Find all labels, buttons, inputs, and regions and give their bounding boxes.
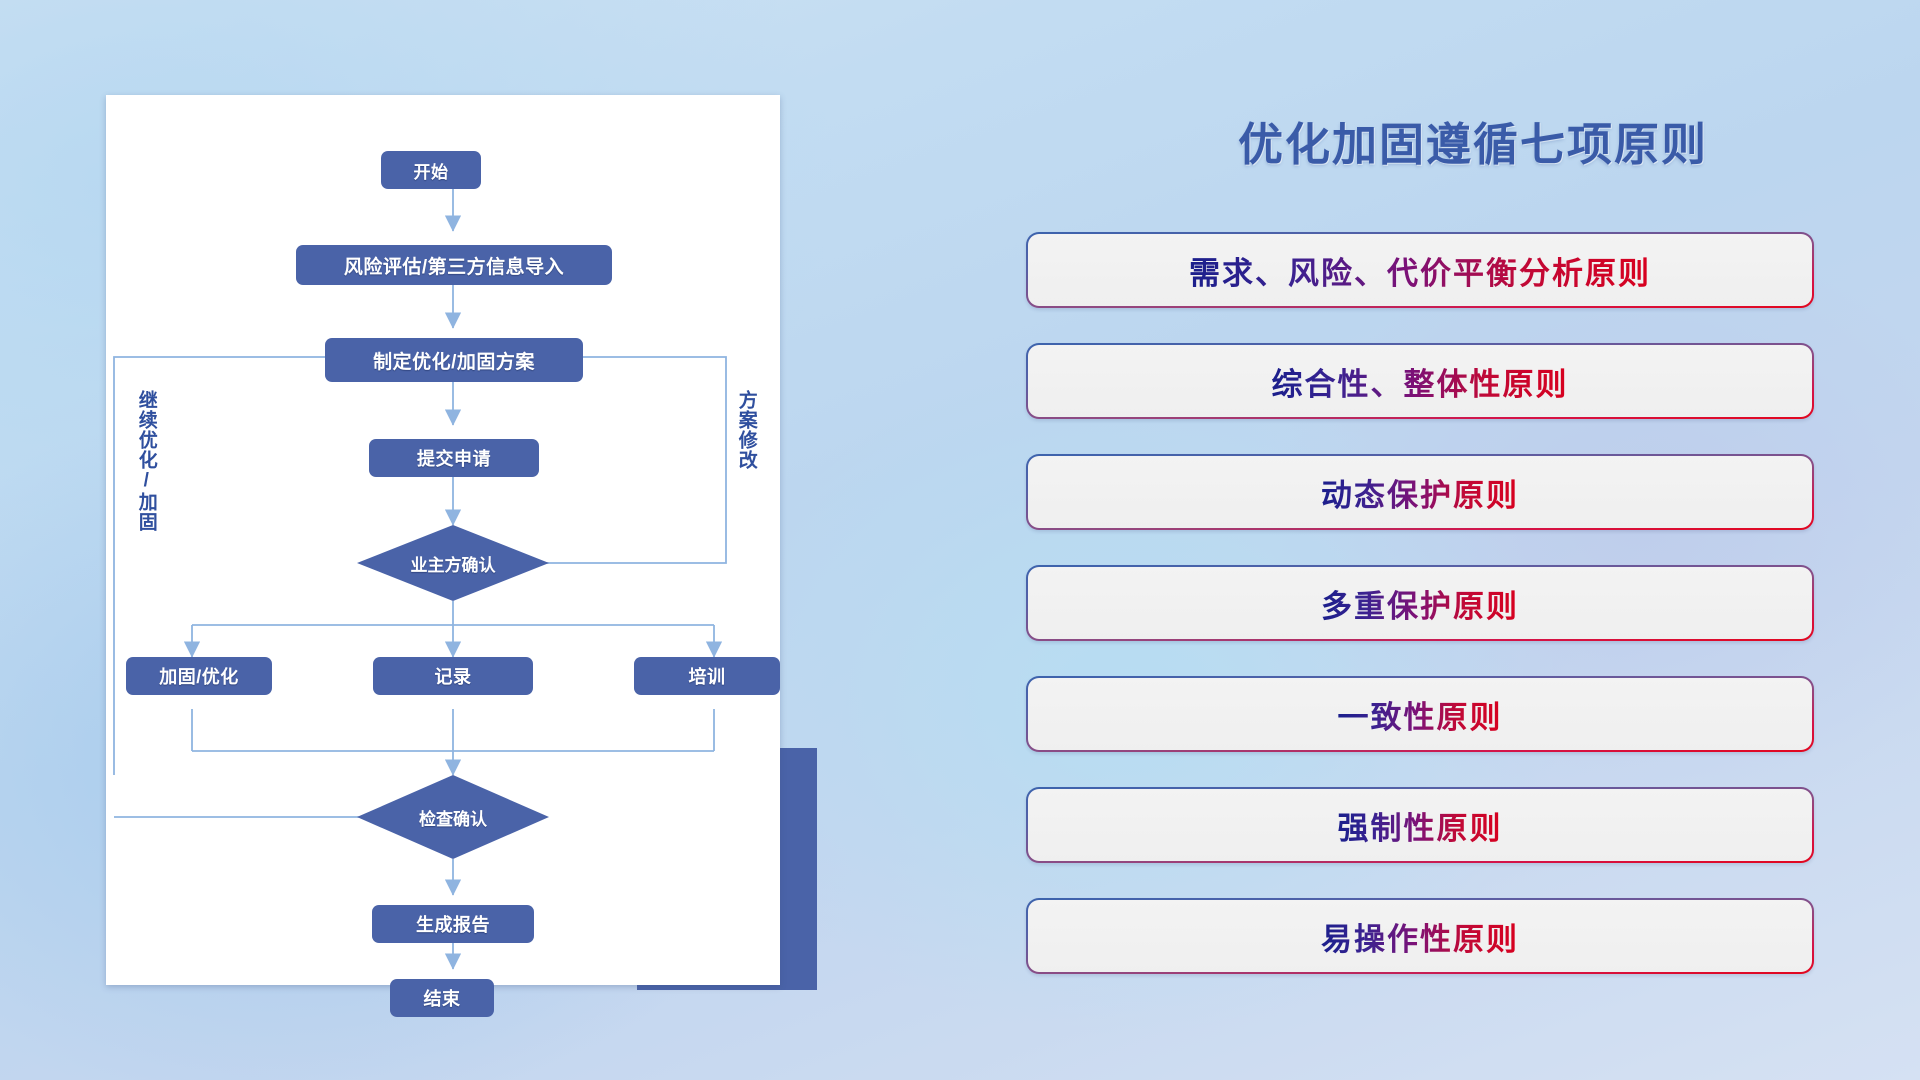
- principle-card[interactable]: 多重保护原则: [1026, 565, 1814, 641]
- flow-node-label: 风险评估/第三方信息导入: [344, 252, 564, 279]
- flow-node-submit-application[interactable]: 提交申请: [369, 439, 539, 477]
- flow-edge-label-plan-revision: 方案修改: [736, 390, 756, 470]
- flow-node-label: 制定优化/加固方案: [373, 347, 535, 374]
- principle-card[interactable]: 易操作性原则: [1026, 898, 1814, 974]
- flow-node-label: 生成报告: [416, 911, 490, 937]
- flow-node-check-confirm[interactable]: 检查确认: [357, 775, 549, 859]
- flow-node-label: 业主方确认: [411, 551, 496, 576]
- principle-label: 一致性原则: [1338, 692, 1503, 737]
- flow-node-label: 加固/优化: [159, 663, 239, 689]
- principle-label: 强制性原则: [1338, 803, 1503, 848]
- principle-card[interactable]: 综合性、整体性原则: [1026, 343, 1814, 419]
- flow-node-label: 开始: [414, 158, 449, 183]
- principles-list: 需求、风险、代价平衡分析原则 综合性、整体性原则 动态保护原则 多重保护原则 一…: [1026, 232, 1814, 1009]
- flow-node-reinforce[interactable]: 加固/优化: [126, 657, 272, 695]
- flow-node-risk-assessment[interactable]: 风险评估/第三方信息导入: [296, 245, 612, 285]
- flow-node-label: 记录: [435, 663, 472, 689]
- principles-panel: 优化加固遵循七项原则 需求、风险、代价平衡分析原则 综合性、整体性原则 动态保护…: [1020, 0, 1920, 1080]
- flow-node-record[interactable]: 记录: [373, 657, 533, 695]
- principle-card[interactable]: 动态保护原则: [1026, 454, 1814, 530]
- principle-card[interactable]: 强制性原则: [1026, 787, 1814, 863]
- principle-card[interactable]: 需求、风险、代价平衡分析原则: [1026, 232, 1814, 308]
- principle-label: 需求、风险、代价平衡分析原则: [1189, 248, 1651, 293]
- flow-node-owner-confirm[interactable]: 业主方确认: [357, 525, 549, 601]
- flow-node-generate-report[interactable]: 生成报告: [372, 905, 534, 943]
- principles-title: 优化加固遵循七项原则: [1153, 108, 1793, 173]
- flowchart-card: 开始 风险评估/第三方信息导入 制定优化/加固方案 提交申请 业主方确认 加固/…: [106, 95, 780, 985]
- flow-edge-label-continue-optimize: 继续优化/加固: [136, 390, 156, 532]
- flow-node-label: 结束: [424, 985, 461, 1011]
- flow-node-label: 提交申请: [417, 445, 491, 471]
- principle-label: 多重保护原则: [1321, 581, 1519, 626]
- flow-node-label: 检查确认: [419, 805, 487, 830]
- principle-label: 易操作性原则: [1321, 914, 1519, 959]
- flow-node-end[interactable]: 结束: [390, 979, 494, 1017]
- flow-node-start[interactable]: 开始: [381, 151, 481, 189]
- principle-label: 动态保护原则: [1321, 470, 1519, 515]
- flow-node-plan[interactable]: 制定优化/加固方案: [325, 338, 583, 382]
- principle-label: 综合性、整体性原则: [1272, 359, 1569, 404]
- flow-node-label: 培训: [689, 663, 726, 689]
- principle-card[interactable]: 一致性原则: [1026, 676, 1814, 752]
- flow-node-training[interactable]: 培训: [634, 657, 780, 695]
